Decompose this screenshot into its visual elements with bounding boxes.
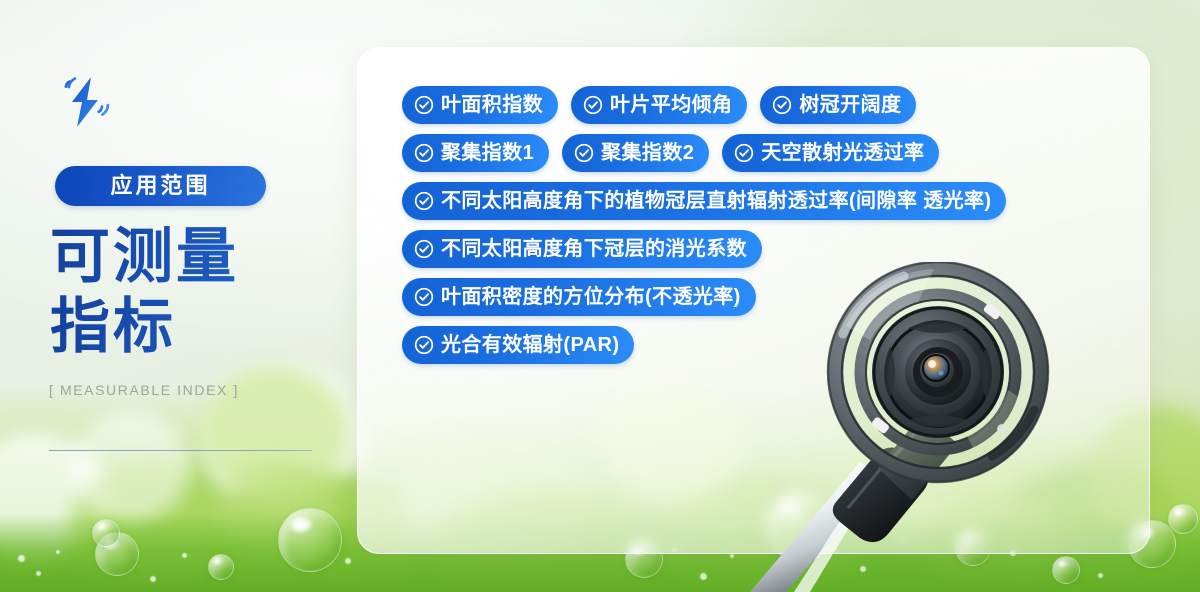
feature-pill[interactable]: 不同太阳高度角下的植物冠层直射辐射透过率(间隙率 透光率) [402, 182, 1006, 220]
feature-pill[interactable]: 不同太阳高度角下冠层的消光系数 [402, 230, 762, 268]
feature-pill-label: 聚集指数2 [601, 143, 694, 163]
feature-pill[interactable]: 树冠开阔度 [760, 86, 916, 124]
promo-banner: 应用范围 可测量 指标 [ MEASURABLE INDEX ] 叶面积指数 叶… [0, 0, 1200, 592]
lightning-signal-icon [55, 72, 117, 134]
left-panel: 应用范围 可测量 指标 [ MEASURABLE INDEX ] [0, 0, 357, 592]
check-circle-icon [583, 95, 603, 115]
feature-pill[interactable]: 叶面积密度的方位分布(不透光率) [402, 278, 756, 316]
check-circle-icon [414, 95, 434, 115]
check-circle-icon [414, 143, 434, 163]
feature-pill-row: 聚集指数1 聚集指数2 天空散射光透过率 [402, 134, 1102, 172]
feature-pill-label: 叶片平均倾角 [610, 95, 732, 115]
feature-pill-row: 不同太阳高度角下冠层的消光系数 [402, 230, 1102, 268]
feature-pill-label: 树冠开阔度 [799, 95, 901, 115]
check-circle-icon [414, 191, 434, 211]
feature-pill-row: 叶面积密度的方位分布(不透光率) [402, 278, 1102, 316]
page-title-line1: 可测量 [50, 222, 350, 292]
water-droplet [1168, 504, 1198, 534]
feature-pill-label: 不同太阳高度角下的植物冠层直射辐射透过率(间隙率 透光率) [441, 191, 991, 211]
check-circle-icon [414, 335, 434, 355]
check-circle-icon [574, 143, 594, 163]
feature-pill-label: 光合有效辐射(PAR) [441, 335, 619, 355]
check-circle-icon [734, 143, 754, 163]
feature-pill-label: 叶面积密度的方位分布(不透光率) [441, 287, 741, 307]
page-subtitle-en: [ MEASURABLE INDEX ] [49, 382, 239, 398]
feature-pill-row: 叶面积指数 叶片平均倾角 树冠开阔度 [402, 86, 1102, 124]
mist-speck [700, 573, 707, 580]
feature-pill[interactable]: 光合有效辐射(PAR) [402, 326, 634, 364]
check-circle-icon [772, 95, 792, 115]
feature-pill-label: 天空散射光透过率 [761, 143, 924, 163]
page-title: 可测量 指标 [50, 222, 350, 361]
mist-speck [860, 566, 866, 572]
check-circle-icon [414, 239, 434, 259]
feature-pill[interactable]: 叶面积指数 [402, 86, 558, 124]
mist-speck [1098, 573, 1103, 578]
page-title-line2: 指标 [50, 292, 350, 362]
features-card: 叶面积指数 叶片平均倾角 树冠开阔度 聚集指数1 [357, 47, 1150, 554]
feature-pill[interactable]: 聚集指数1 [402, 134, 549, 172]
feature-pill-row: 不同太阳高度角下的植物冠层直射辐射透过率(间隙率 透光率) [402, 182, 1102, 220]
feature-pill-label: 不同太阳高度角下冠层的消光系数 [441, 239, 747, 259]
check-circle-icon [414, 287, 434, 307]
feature-pill-row: 光合有效辐射(PAR) [402, 326, 1102, 364]
feature-pill[interactable]: 天空散射光透过率 [722, 134, 939, 172]
water-droplet [1052, 556, 1080, 584]
feature-pill-label: 聚集指数1 [441, 143, 534, 163]
scope-badge: 应用范围 [55, 166, 266, 206]
scope-badge-label: 应用范围 [110, 175, 210, 197]
feature-pill[interactable]: 叶片平均倾角 [571, 86, 747, 124]
mist-speck [730, 554, 734, 558]
feature-pill-label: 叶面积指数 [441, 95, 543, 115]
feature-pill[interactable]: 聚集指数2 [562, 134, 709, 172]
feature-pill-list: 叶面积指数 叶片平均倾角 树冠开阔度 聚集指数1 [402, 86, 1102, 374]
divider [49, 450, 312, 451]
